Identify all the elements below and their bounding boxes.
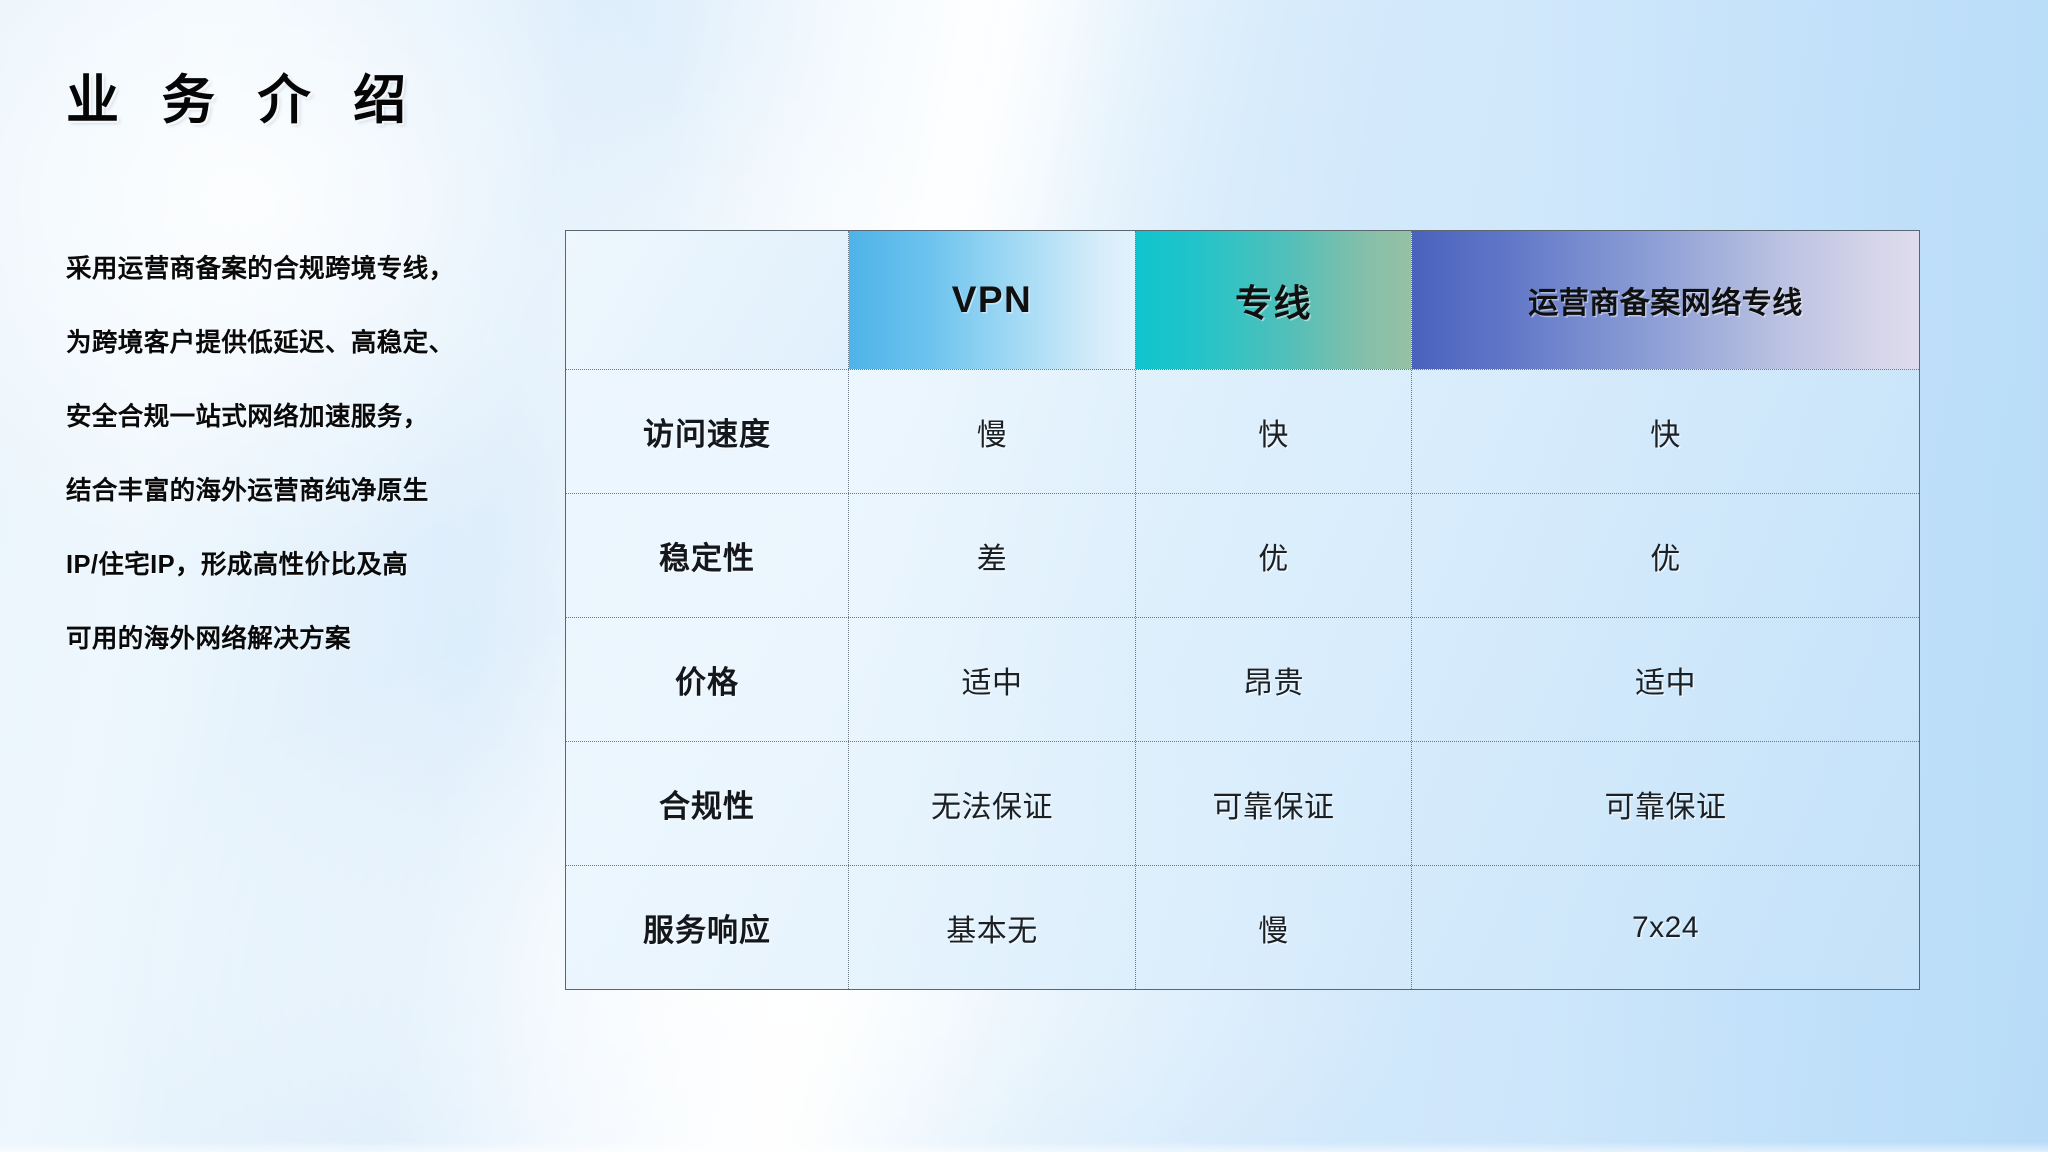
table-row-label: 服务响应 xyxy=(643,905,771,950)
table-cell-value: 慢 xyxy=(977,410,1008,454)
intro-line: 安全合规一站式网络加速服务， xyxy=(66,380,596,454)
table-cell-vpn: 适中 xyxy=(848,618,1135,741)
table-cell-isp-line: 适中 xyxy=(1411,618,1919,741)
table-cell-value: 优 xyxy=(1258,534,1289,578)
intro-line: 为跨境客户提供低延迟、高稳定、 xyxy=(66,306,596,380)
table-row-label-cell: 价格 xyxy=(566,618,848,741)
table-row-label: 合规性 xyxy=(659,781,755,826)
table-row: 合规性 无法保证 可靠保证 可靠保证 xyxy=(566,741,1919,865)
table-cell-dedicated-line: 快 xyxy=(1135,370,1411,493)
table-cell-value: 可靠保证 xyxy=(1605,782,1727,826)
table-cell-value: 差 xyxy=(977,534,1008,578)
intro-line: 可用的海外网络解决方案 xyxy=(66,602,596,676)
table-row-label-cell: 合规性 xyxy=(566,742,848,865)
table-cell-value: 快 xyxy=(1650,410,1681,454)
intro-line: 采用运营商备案的合规跨境专线， xyxy=(66,232,596,306)
table-cell-value: 昂贵 xyxy=(1243,658,1304,702)
table-row: 稳定性 差 优 优 xyxy=(566,493,1919,617)
table-cell-dedicated-line: 优 xyxy=(1135,494,1411,617)
table-cell-value: 适中 xyxy=(962,658,1023,702)
table-header-cell-vpn: VPN xyxy=(848,231,1135,369)
table-row-label: 稳定性 xyxy=(659,533,755,578)
table-header-corner-cell xyxy=(566,231,848,369)
table-cell-value: 可靠保证 xyxy=(1213,782,1335,826)
table-row-label-cell: 稳定性 xyxy=(566,494,848,617)
table-cell-isp-line: 优 xyxy=(1411,494,1919,617)
table-cell-isp-line: 可靠保证 xyxy=(1411,742,1919,865)
table-row-label: 访问速度 xyxy=(643,409,771,454)
table-cell-vpn: 无法保证 xyxy=(848,742,1135,865)
table-cell-isp-line: 快 xyxy=(1411,370,1919,493)
table-header-row: VPN 专线 运营商备案网络专线 xyxy=(566,231,1919,369)
comparison-table: VPN 专线 运营商备案网络专线 访问速度 慢 快 快 xyxy=(565,230,1920,990)
table-row: 访问速度 慢 快 快 xyxy=(566,369,1919,493)
table-row: 价格 适中 昂贵 适中 xyxy=(566,617,1919,741)
table-row-label-cell: 服务响应 xyxy=(566,866,848,989)
table-header-label-isp-line: 运营商备案网络专线 xyxy=(1528,278,1803,322)
table-cell-dedicated-line: 慢 xyxy=(1135,866,1411,989)
table-header-label-dedicated-line: 专线 xyxy=(1235,273,1312,327)
table-cell-vpn: 基本无 xyxy=(848,866,1135,989)
table-row: 服务响应 基本无 慢 7x24 xyxy=(566,865,1919,989)
table-row-label: 价格 xyxy=(675,657,739,702)
table-row-label-cell: 访问速度 xyxy=(566,370,848,493)
table-header-label-vpn: VPN xyxy=(952,279,1033,321)
page-title: 业 务 介 绍 xyxy=(66,58,420,134)
table-cell-value: 适中 xyxy=(1635,658,1696,702)
intro-line: IP/住宅IP，形成高性价比及高 xyxy=(66,528,596,602)
intro-paragraph: 采用运营商备案的合规跨境专线， 为跨境客户提供低延迟、高稳定、 安全合规一站式网… xyxy=(66,232,596,676)
intro-line: 结合丰富的海外运营商纯净原生 xyxy=(66,454,596,528)
table-cell-vpn: 慢 xyxy=(848,370,1135,493)
table-cell-value: 基本无 xyxy=(946,906,1038,950)
table-cell-vpn: 差 xyxy=(848,494,1135,617)
table-cell-value: 7x24 xyxy=(1632,911,1699,945)
table-cell-isp-line: 7x24 xyxy=(1411,866,1919,989)
table-header-cell-dedicated-line: 专线 xyxy=(1135,231,1411,369)
table-cell-value: 优 xyxy=(1650,534,1681,578)
table-header-cell-isp-line: 运营商备案网络专线 xyxy=(1411,231,1919,369)
table-cell-dedicated-line: 昂贵 xyxy=(1135,618,1411,741)
table-cell-value: 慢 xyxy=(1258,906,1289,950)
table-cell-dedicated-line: 可靠保证 xyxy=(1135,742,1411,865)
table-cell-value: 无法保证 xyxy=(931,782,1053,826)
slide-content: 业 务 介 绍 采用运营商备案的合规跨境专线， 为跨境客户提供低延迟、高稳定、 … xyxy=(0,0,2048,1152)
table-cell-value: 快 xyxy=(1258,410,1289,454)
